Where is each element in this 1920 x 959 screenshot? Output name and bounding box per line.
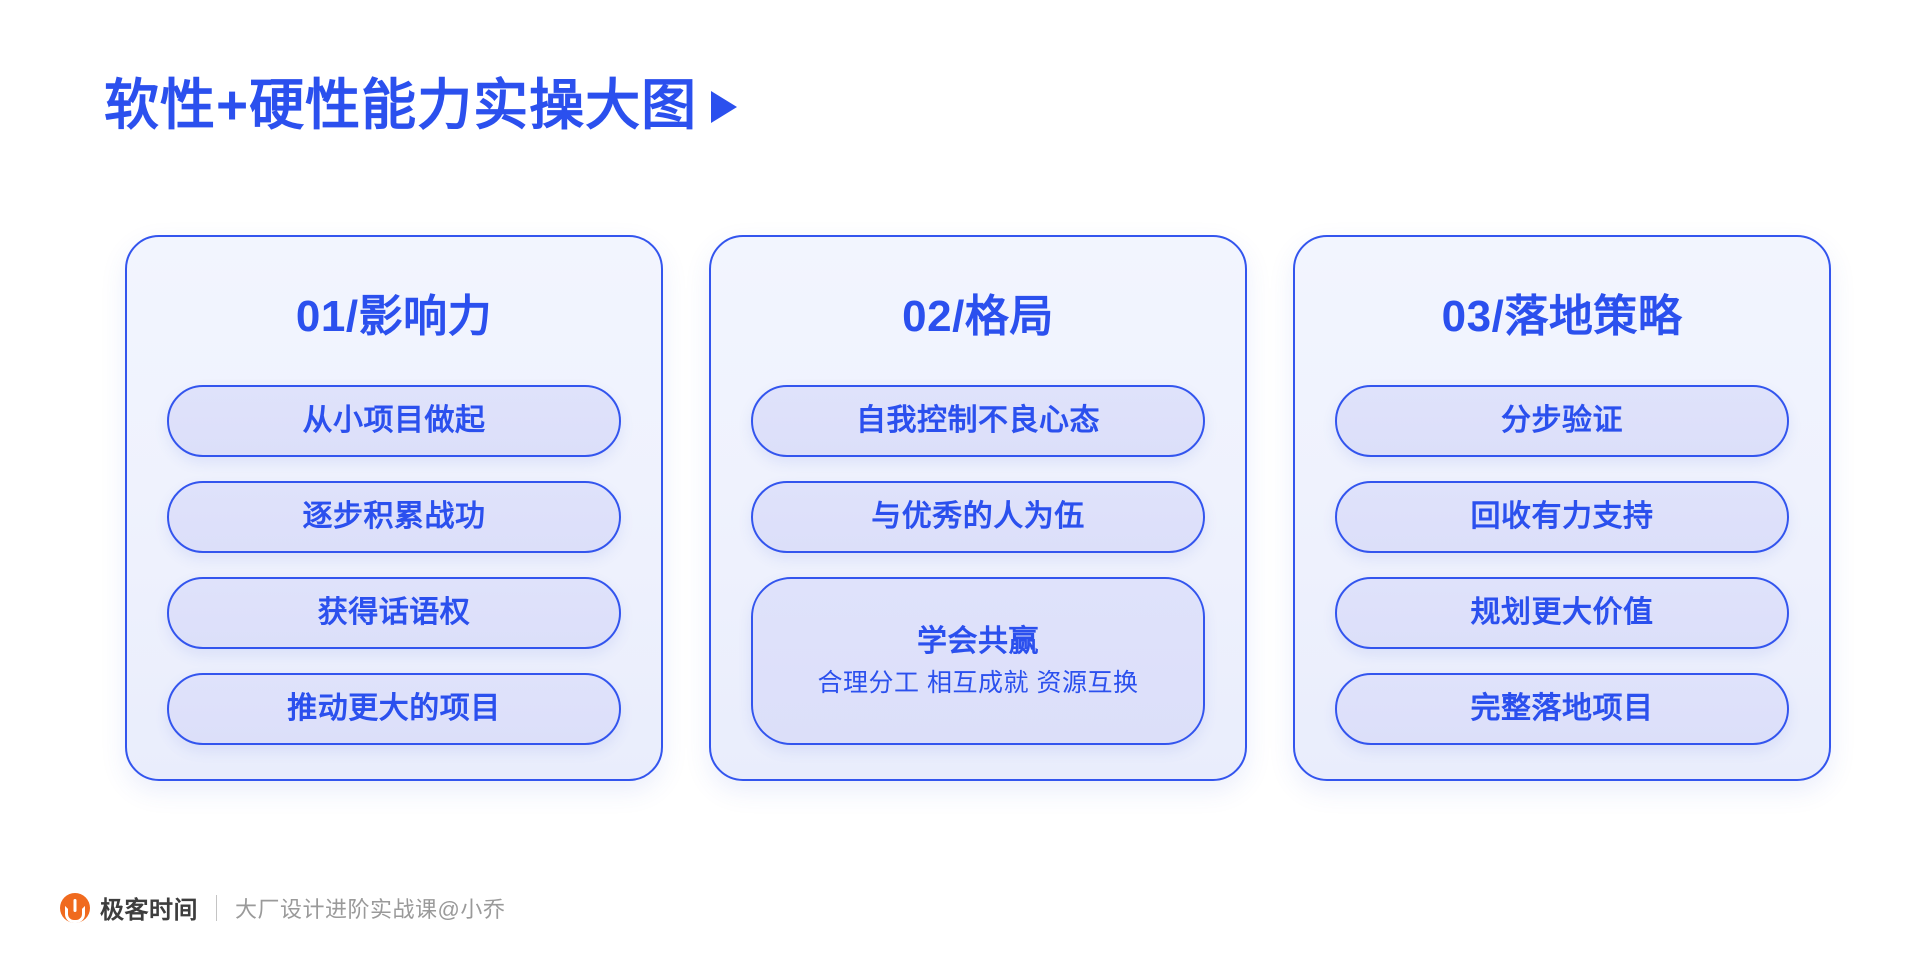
list-item-label: 从小项目做起 [303,403,486,439]
card-02[interactable]: 02/格局 自我控制不良心态 与优秀的人为伍 学会共赢 合理分工 相互成就 资源… [709,235,1247,781]
brand-name: 极客时间 [100,890,198,925]
page-title: 软性+硬性能力实操大图 [104,78,737,133]
list-item-subtitle: 合理分工 相互成就 资源互换 [818,668,1139,699]
card-item-list: 自我控制不良心态 与优秀的人为伍 学会共赢 合理分工 相互成就 资源互换 [751,385,1205,745]
list-item[interactable]: 从小项目做起 [167,385,621,457]
card-title: 03/落地策略 [1335,293,1789,341]
list-item-label: 学会共赢 [917,624,1039,660]
footer-divider [216,895,217,921]
list-item[interactable]: 规划更大价值 [1335,577,1789,649]
list-item[interactable]: 学会共赢 合理分工 相互成就 资源互换 [751,577,1205,745]
card-title: 02/格局 [751,293,1205,341]
list-item[interactable]: 逐步积累战功 [167,481,621,553]
list-item[interactable]: 自我控制不良心态 [751,385,1205,457]
list-item-label: 分步验证 [1501,403,1623,439]
list-item[interactable]: 推动更大的项目 [167,673,621,745]
card-item-list: 从小项目做起 逐步积累战功 获得话语权 推动更大的项目 [167,385,621,745]
card-item-list: 分步验证 回收有力支持 规划更大价值 完整落地项目 [1335,385,1789,745]
footer-note: 大厂设计进阶实战课@小乔 [235,892,505,924]
card-01[interactable]: 01/影响力 从小项目做起 逐步积累战功 获得话语权 推动更大的项目 [125,235,663,781]
list-item[interactable]: 完整落地项目 [1335,673,1789,745]
list-item-label: 推动更大的项目 [287,691,501,727]
list-item-label: 完整落地项目 [1471,691,1654,727]
page-title-text: 软性+硬性能力实操大图 [104,78,697,133]
geekbang-circle-logo-icon [60,893,90,923]
list-item-label: 规划更大价值 [1471,595,1654,631]
list-item[interactable]: 获得话语权 [167,577,621,649]
list-item[interactable]: 与优秀的人为伍 [751,481,1205,553]
list-item[interactable]: 分步验证 [1335,385,1789,457]
list-item[interactable]: 回收有力支持 [1335,481,1789,553]
slide-root: 软性+硬性能力实操大图 01/影响力 从小项目做起 逐步积累战功 获得话语权 推… [0,0,1920,959]
list-item-label: 获得话语权 [318,595,471,631]
footer: 极客时间 大厂设计进阶实战课@小乔 [60,890,505,925]
card-title: 01/影响力 [167,293,621,341]
list-item-label: 与优秀的人为伍 [871,499,1085,535]
card-columns: 01/影响力 从小项目做起 逐步积累战功 获得话语权 推动更大的项目 02/格局 [125,235,1831,781]
list-item-label: 自我控制不良心态 [856,403,1100,439]
play-triangle-icon [711,91,737,123]
list-item-label: 回收有力支持 [1471,499,1654,535]
card-03[interactable]: 03/落地策略 分步验证 回收有力支持 规划更大价值 完整落地项目 [1293,235,1831,781]
list-item-label: 逐步积累战功 [303,499,486,535]
